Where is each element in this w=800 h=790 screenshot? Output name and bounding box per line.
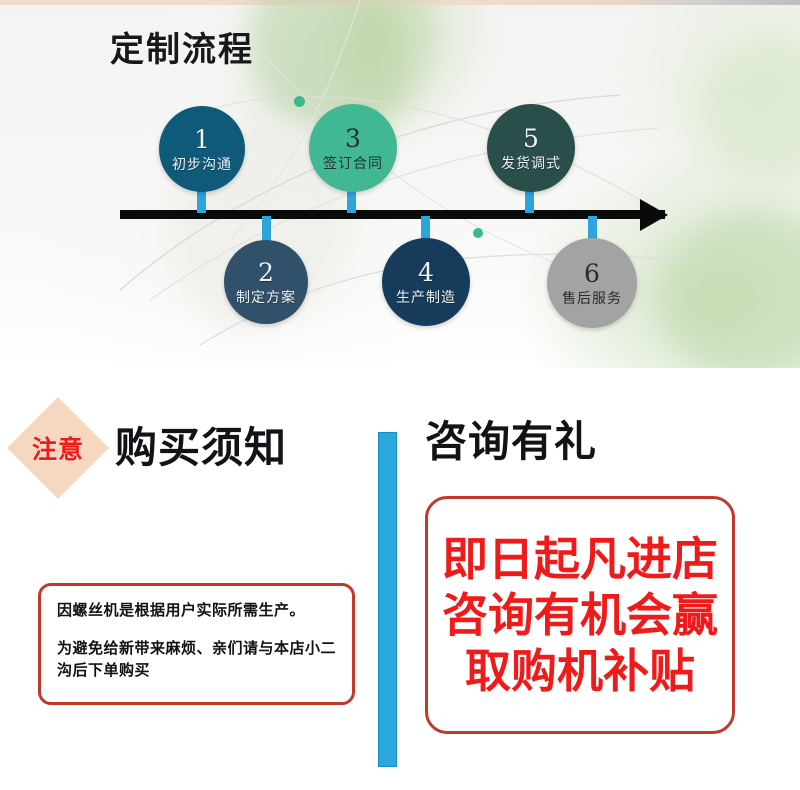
process-flow-panel: 定制流程 1 初步沟通 2 制定方案 3 签订合同 4 生产制造 5 发货调式 …	[0, 0, 800, 368]
green-dot-icon	[473, 228, 483, 238]
notice-badge-label: 注意	[22, 412, 94, 484]
promo-box: 即日起凡进店 咨询有机会赢 取购机补贴	[425, 496, 735, 734]
step-number: 3	[345, 126, 361, 151]
step-number: 6	[584, 261, 600, 286]
step-number: 5	[523, 126, 539, 151]
process-step-4[interactable]: 4 生产制造	[382, 238, 470, 326]
step-label: 售后服务	[562, 292, 622, 306]
process-step-1[interactable]: 1 初步沟通	[159, 106, 245, 192]
process-step-5[interactable]: 5 发货调式	[487, 104, 575, 192]
step-label: 生产制造	[396, 291, 456, 305]
promo-line-2: 咨询有机会赢	[442, 587, 718, 643]
step-label: 初步沟通	[172, 158, 232, 172]
promo-line-1: 即日起凡进店	[442, 531, 718, 587]
timeline-arrow-head-icon	[640, 199, 668, 231]
notice-line-2: 为避免给新带来麻烦、亲们请与本店小二沟后下单购买	[57, 638, 336, 682]
notice-line-1: 因螺丝机是根据用户实际所需生产。	[57, 600, 336, 622]
bottom-section: 注意 购买须知 咨询有礼 因螺丝机是根据用户实际所需生产。 为避免给新带来麻烦、…	[0, 368, 800, 790]
consult-gift-heading: 咨询有礼	[425, 408, 597, 469]
step-number: 4	[418, 260, 434, 285]
step-label: 发货调式	[501, 157, 561, 171]
step-number: 2	[258, 260, 274, 285]
step-label: 签订合同	[323, 157, 383, 171]
step-number: 1	[194, 127, 210, 152]
process-step-3[interactable]: 3 签订合同	[309, 104, 397, 192]
purchase-notice-heading: 购买须知	[115, 414, 287, 475]
process-step-6[interactable]: 6 售后服务	[547, 238, 637, 328]
purchase-notice-box: 因螺丝机是根据用户实际所需生产。 为避免给新带来麻烦、亲们请与本店小二沟后下单购…	[38, 583, 355, 705]
page-title: 定制流程	[110, 22, 254, 71]
step-label: 制定方案	[236, 291, 296, 305]
section-divider-bar	[378, 432, 397, 767]
green-dot-icon	[294, 96, 305, 107]
promo-line-3: 取购机补贴	[465, 643, 695, 699]
process-step-2[interactable]: 2 制定方案	[224, 240, 308, 324]
